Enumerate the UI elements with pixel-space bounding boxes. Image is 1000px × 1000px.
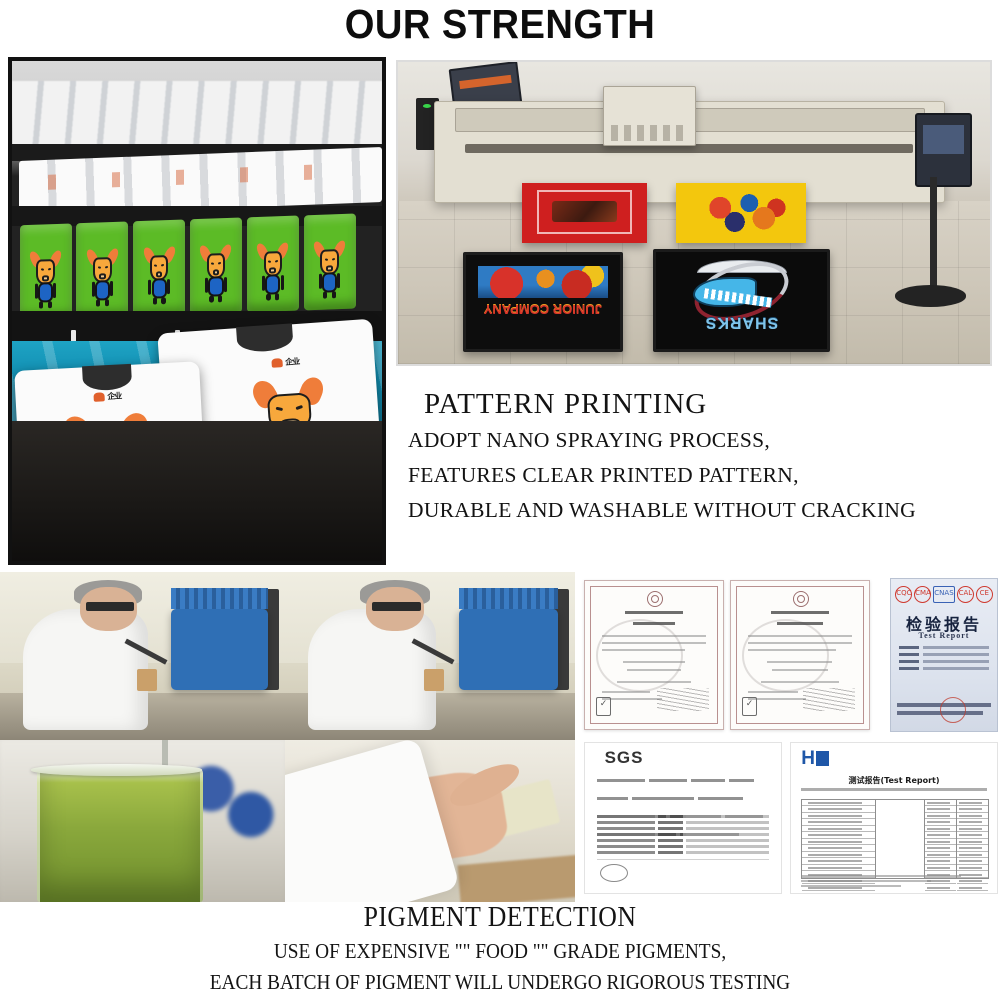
- pigment-detection-line-1: USE OF EXPENSIVE "" FOOD "" GRADE PIGMEN…: [40, 936, 960, 967]
- photo-pigment-beaker: [0, 740, 285, 902]
- bull-head-icon: [271, 358, 283, 368]
- green-shirt: [303, 213, 355, 310]
- sgs-logo: SGS: [605, 748, 644, 768]
- sample-vial: [424, 669, 444, 691]
- page-root: OUR STRENGTH: [0, 0, 1000, 1000]
- bull-mascot-icon: [32, 248, 59, 308]
- page-title: OUR STRENGTH: [35, 2, 965, 46]
- floor-stand-pole: [930, 177, 937, 298]
- safety-glasses-icon: [86, 602, 134, 610]
- shirt-print-text-junior: JUNIOR COMPANY: [472, 302, 614, 316]
- safety-glasses-icon: [372, 602, 421, 610]
- brand-logo-small: 企业: [93, 390, 122, 402]
- pattern-printing-line-2: FEATURES CLEAR PRINTED PATTERN,: [396, 458, 1000, 493]
- h-report-table: [801, 799, 988, 879]
- photo-screen-printing-carousel: 企业 企业: [8, 57, 386, 565]
- green-shirt: [19, 223, 71, 320]
- pigment-detection-heading: PIGMENT DETECTION: [40, 900, 960, 936]
- mark-cma-icon: CMA: [914, 586, 931, 603]
- accreditation-marks: CQC CMA CNAS CAL CE: [895, 587, 993, 604]
- printer-head-assembly: [603, 86, 697, 146]
- h-logo: H: [801, 748, 829, 770]
- photo-dtg-printer: JUNIOR COMPANY SHARKS: [396, 60, 992, 366]
- test-report-title-en: Test Report: [891, 631, 997, 640]
- platen-black-shirt-sharks: SHARKS: [653, 249, 831, 352]
- beaker-green-liquid: [37, 768, 203, 902]
- green-shirt: [133, 219, 185, 316]
- pigment-detection-text-block: PIGMENT DETECTION USE OF EXPENSIVE "" FO…: [0, 900, 1000, 998]
- mark-cqc-icon: CQC: [895, 586, 912, 603]
- bull-mascot-icon: [259, 240, 286, 300]
- bull-mascot-icon: [316, 238, 343, 298]
- h-test-report: H 测试报告(Test Report): [790, 742, 998, 894]
- platen-black-shirt-junior: JUNIOR COMPANY: [463, 252, 623, 352]
- printer-control-panel: [915, 113, 972, 186]
- sample-vial: [137, 669, 157, 691]
- carousel-scene: 企业 企业: [12, 61, 382, 561]
- brand-logo-small: 企业: [271, 356, 300, 369]
- stamp-icon: ✓: [742, 697, 757, 716]
- certificates-panel: ✓ ✓ CQC CMA CNAS CAL CE: [578, 572, 1000, 902]
- stamp-icon: ✓: [596, 697, 611, 716]
- sgs-stamp-icon: [600, 864, 628, 882]
- machine-base-shadow: [12, 421, 382, 561]
- certificate-english: ✓: [730, 580, 870, 730]
- sgs-test-report: SGS: [584, 742, 782, 894]
- mark-cal-icon: CAL: [957, 586, 974, 603]
- official-seal-icon: [940, 697, 966, 723]
- bull-mascot-icon: [89, 246, 116, 306]
- brand-logo-text: 企业: [107, 390, 122, 402]
- pattern-printing-line-3: DURABLE AND WASHABLE WITHOUT CRACKING: [396, 493, 1000, 528]
- green-shirt-row: [16, 212, 382, 320]
- mark-cnas-icon: CNAS: [933, 586, 955, 603]
- photo-lab-technician-right: [285, 572, 575, 740]
- lab-mixer-machine: [171, 609, 268, 690]
- lab-coat: [23, 609, 148, 730]
- lab-coat: [308, 609, 436, 730]
- bull-mascot-icon: [202, 242, 229, 302]
- platen-yellow-shirt: [676, 183, 806, 243]
- green-shirt: [76, 221, 128, 318]
- test-report-certificate: CQC CMA CNAS CAL CE 检验报告 Test Report: [890, 578, 998, 732]
- power-led-icon: [423, 104, 432, 108]
- mark-ce-icon: CE: [976, 586, 993, 603]
- certificate-chinese: ✓: [584, 580, 724, 730]
- beaker-rim: [31, 764, 202, 775]
- pattern-printing-heading: PATTERN PRINTING: [396, 385, 1000, 423]
- lab-mixer-machine: [459, 609, 558, 690]
- green-shirt: [190, 217, 242, 314]
- pigment-detection-line-2: EACH BATCH OF PIGMENT WILL UNDERGO RIGOR…: [40, 967, 960, 998]
- platen-red-shirt: [522, 183, 646, 243]
- hanging-shirts-background: [12, 81, 382, 146]
- pattern-printing-line-1: ADOPT NANO SPRAYING PROCESS,: [396, 423, 1000, 458]
- pattern-printing-text-block: PATTERN PRINTING ADOPT NANO SPRAYING PRO…: [396, 385, 1000, 528]
- lab-coat-sleeve: [285, 740, 460, 902]
- shirt-print-text-sharks: SHARKS: [666, 313, 817, 331]
- bull-head-icon: [93, 392, 104, 402]
- bull-mascot-icon: [145, 244, 172, 304]
- h-report-title: 测试报告(Test Report): [791, 775, 997, 786]
- floor-stand-base: [895, 285, 966, 306]
- green-shirt: [246, 215, 298, 312]
- photo-lab-technician-left: [0, 572, 285, 740]
- photo-hand-fabric-sample: [285, 740, 575, 902]
- brand-logo-text: 企业: [284, 356, 299, 368]
